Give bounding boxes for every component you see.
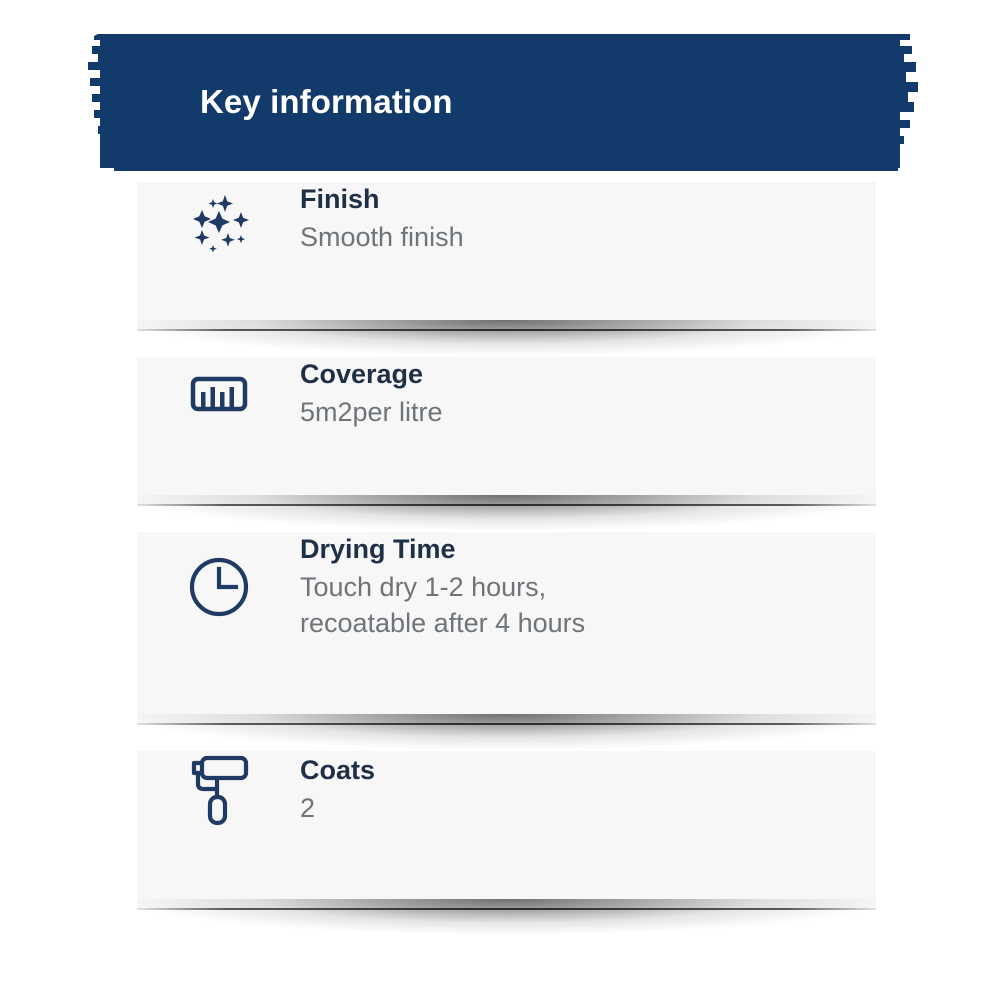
item-title: Drying Time bbox=[300, 532, 856, 567]
item-title: Coverage bbox=[300, 357, 856, 392]
panel-header: Key information bbox=[88, 32, 920, 172]
page-title: Key information bbox=[200, 32, 453, 172]
list-item[interactable]: Coverage 5m2per litre bbox=[137, 357, 876, 505]
key-information-list: Finish Smooth finish bbox=[137, 182, 876, 909]
item-value: 5m2per litre bbox=[300, 395, 856, 431]
item-text: Coverage 5m2per litre bbox=[300, 357, 876, 431]
item-value: Touch dry 1-2 hours, recoatable after 4 … bbox=[300, 570, 856, 642]
item-title: Finish bbox=[300, 182, 856, 217]
sparkle-cluster-icon bbox=[137, 183, 300, 255]
item-title: Coats bbox=[300, 753, 856, 788]
item-text: Coats 2 bbox=[300, 753, 876, 827]
ruler-icon bbox=[137, 360, 300, 428]
clock-icon bbox=[137, 551, 300, 623]
item-value: 2 bbox=[300, 791, 856, 827]
key-information-panel: Key information bbox=[0, 0, 1000, 1000]
list-item[interactable]: Coats 2 bbox=[137, 751, 876, 909]
item-text: Drying Time Touch dry 1-2 hours, recoata… bbox=[300, 532, 876, 642]
list-item[interactable]: Finish Smooth finish bbox=[137, 182, 876, 330]
paint-roller-icon bbox=[137, 751, 300, 829]
item-text: Finish Smooth finish bbox=[300, 182, 876, 256]
list-item[interactable]: Drying Time Touch dry 1-2 hours, recoata… bbox=[137, 532, 876, 724]
item-value: Smooth finish bbox=[300, 220, 856, 256]
